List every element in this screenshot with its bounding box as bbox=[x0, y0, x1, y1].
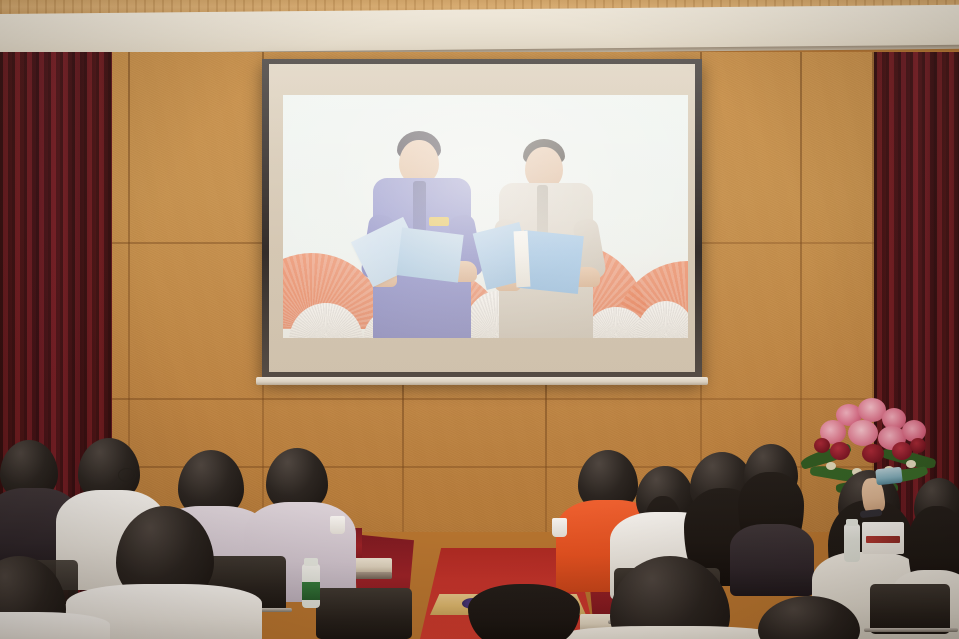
presenter-left-folder bbox=[396, 227, 463, 282]
screen-roller-bar bbox=[256, 377, 708, 385]
bottle-cap bbox=[304, 558, 318, 566]
chair-back bbox=[870, 584, 950, 634]
rose-bloom bbox=[830, 442, 850, 460]
bottle-label bbox=[302, 582, 320, 600]
paper-cup[interactable] bbox=[552, 518, 567, 537]
projected-slide bbox=[283, 95, 688, 338]
panel-seam bbox=[545, 378, 547, 532]
rose-bloom bbox=[910, 438, 926, 453]
rose-bloom bbox=[862, 444, 884, 463]
presenter-right-placket bbox=[537, 185, 548, 237]
glasses-icon bbox=[118, 468, 136, 482]
presenter-right-paper bbox=[514, 231, 531, 288]
presenter-right bbox=[493, 139, 621, 338]
attendee-body bbox=[560, 626, 780, 639]
chair-frame bbox=[864, 628, 958, 632]
lily-bloom bbox=[848, 420, 878, 446]
attendee-long-hair bbox=[468, 584, 580, 639]
panel-seam bbox=[402, 378, 404, 532]
attendee-body bbox=[730, 524, 814, 596]
chair-back bbox=[316, 588, 412, 639]
rose-bloom bbox=[892, 442, 912, 460]
document-card-accent bbox=[866, 536, 900, 543]
bottle-cap bbox=[846, 519, 858, 526]
projection-screen[interactable] bbox=[262, 59, 702, 381]
filler-bloom bbox=[906, 460, 916, 468]
paper-cup[interactable] bbox=[330, 516, 345, 534]
conference-hall-photo bbox=[0, 0, 959, 639]
smartphone-icon[interactable] bbox=[875, 467, 903, 486]
water-bottle[interactable] bbox=[844, 524, 860, 562]
filler-bloom bbox=[826, 462, 836, 470]
rose-bloom bbox=[814, 438, 830, 453]
attendee-body bbox=[0, 612, 110, 639]
presenter-left-badge-icon bbox=[429, 217, 449, 226]
